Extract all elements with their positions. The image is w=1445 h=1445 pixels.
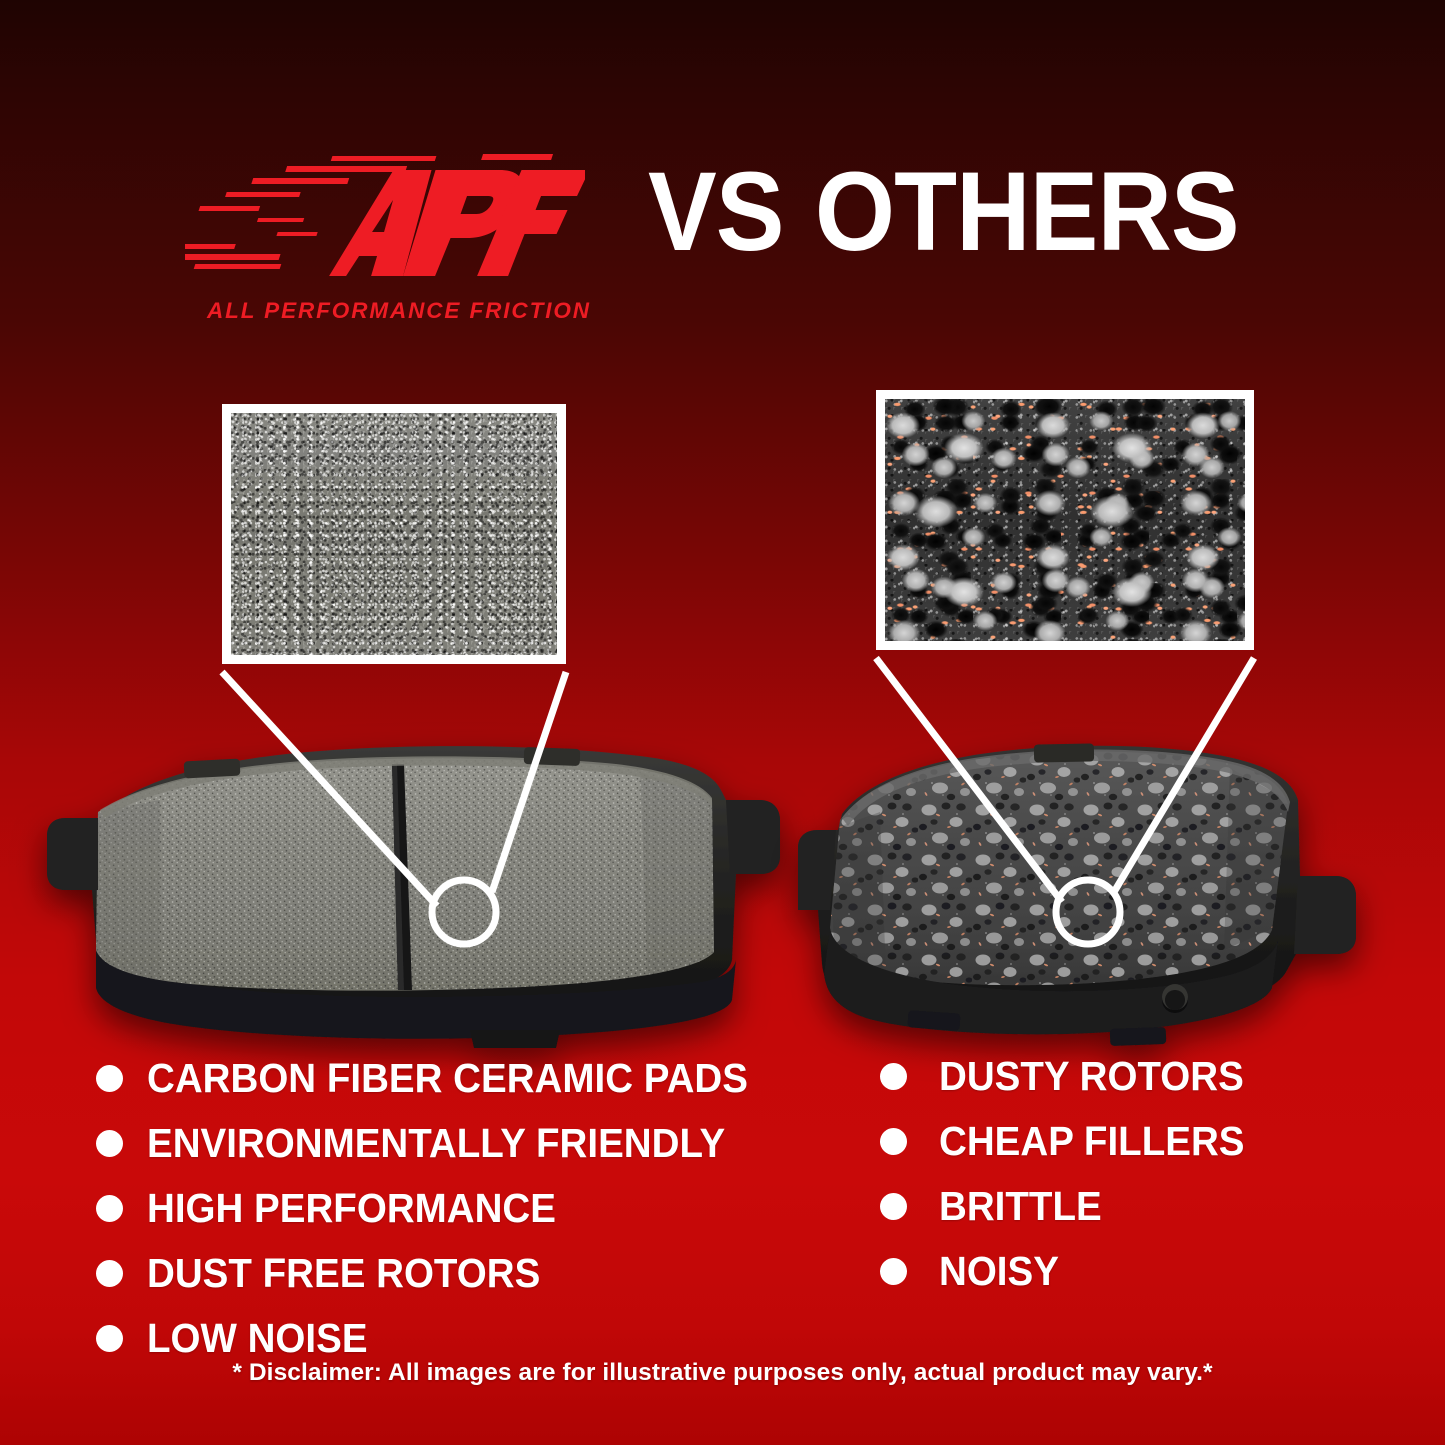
bullet-icon bbox=[880, 1063, 907, 1090]
comparison-infographic: ALL PERFORMANCE FRICTION VSOTHERS bbox=[0, 0, 1445, 1445]
list-item: DUST FREE ROTORS bbox=[96, 1247, 836, 1299]
bullet-icon bbox=[880, 1128, 907, 1155]
competitor-feature-list: DUSTY ROTORS CHEAP FILLERS BRITTLE NOISY bbox=[880, 1050, 1300, 1310]
bullet-icon bbox=[96, 1195, 123, 1222]
feature-label: HIGH PERFORMANCE bbox=[147, 1182, 556, 1234]
bullet-icon bbox=[96, 1065, 123, 1092]
list-item: NOISY bbox=[880, 1245, 1300, 1297]
feature-label: BRITTLE bbox=[939, 1180, 1102, 1232]
apf-brake-pad bbox=[47, 746, 780, 1048]
feature-label: CARBON FIBER CERAMIC PADS bbox=[147, 1052, 748, 1104]
feature-label: CHEAP FILLERS bbox=[939, 1115, 1245, 1167]
feature-label: DUST FREE ROTORS bbox=[147, 1247, 540, 1299]
bullet-icon bbox=[880, 1258, 907, 1285]
bullet-icon bbox=[96, 1130, 123, 1157]
list-item: ENVIRONMENTALLY FRIENDLY bbox=[96, 1117, 836, 1169]
apf-feature-list: CARBON FIBER CERAMIC PADS ENVIRONMENTALL… bbox=[96, 1052, 836, 1377]
bullet-icon bbox=[880, 1193, 907, 1220]
bullet-icon bbox=[96, 1325, 123, 1352]
bullet-icon bbox=[96, 1260, 123, 1287]
list-item: CARBON FIBER CERAMIC PADS bbox=[96, 1052, 836, 1104]
competitor-brake-pad bbox=[798, 743, 1356, 1045]
list-item: CHEAP FILLERS bbox=[880, 1115, 1300, 1167]
disclaimer-text: * Disclaimer: All images are for illustr… bbox=[0, 1359, 1445, 1387]
list-item: DUSTY ROTORS bbox=[880, 1050, 1300, 1102]
list-item: HIGH PERFORMANCE bbox=[96, 1182, 836, 1234]
feature-label: LOW NOISE bbox=[147, 1312, 368, 1364]
list-item: BRITTLE bbox=[880, 1180, 1300, 1232]
feature-label: DUSTY ROTORS bbox=[939, 1050, 1244, 1102]
list-item: LOW NOISE bbox=[96, 1312, 836, 1364]
feature-label: NOISY bbox=[939, 1245, 1059, 1297]
feature-label: ENVIRONMENTALLY FRIENDLY bbox=[147, 1117, 725, 1169]
